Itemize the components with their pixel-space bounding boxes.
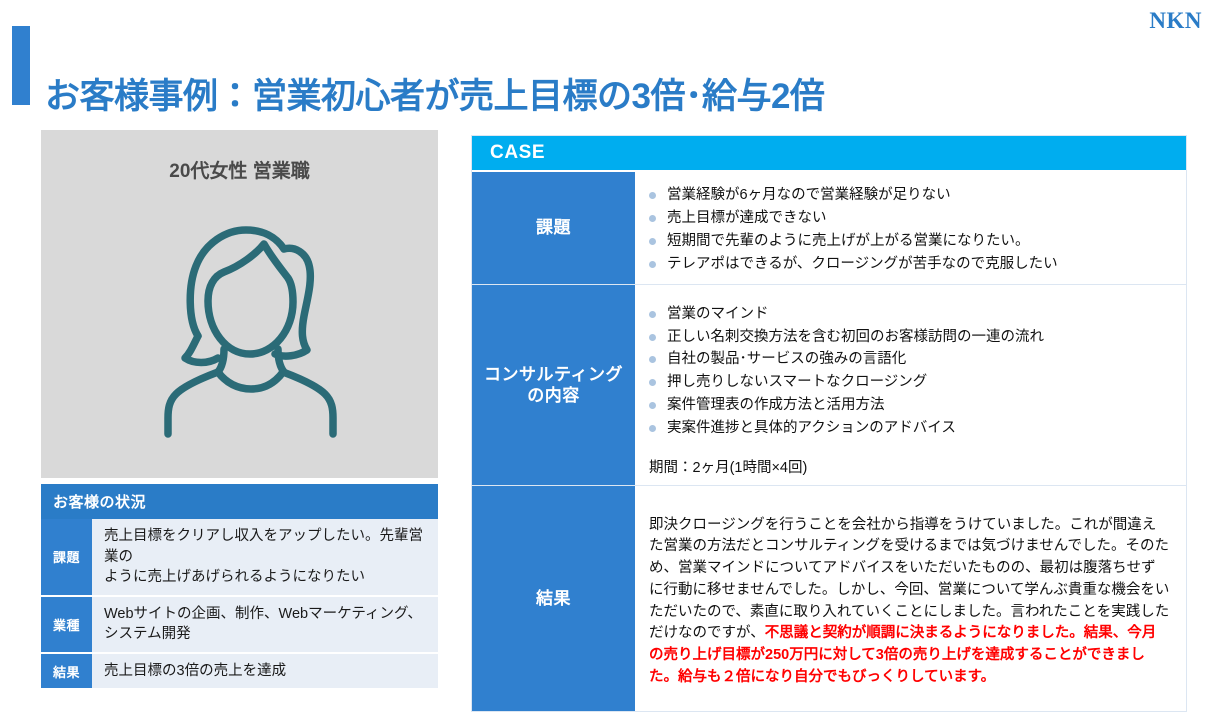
situation-table: お客様の状況 課題 売上目標をクリアし収入をアップしたい。先輩営業の ように売上… [41,484,438,688]
situation-row-label: 業種 [41,597,92,652]
case-row-body: 即決クロージングを行うことを会社から指導をうけていました。これが間違えた営業の方… [635,486,1186,711]
table-row: 課題 営業経験が6ヶ月なので営業経験が足りない 売上目標が達成できない 短期間で… [472,170,1186,284]
table-row: 業種 Webサイトの企画、制作、Webマーケティング、 システム開発 [41,597,438,654]
result-paragraph: 即決クロージングを行うことを会社から指導をうけていました。これが間違えた営業の方… [649,515,1170,689]
case-row-label: 課題 [472,172,635,284]
case-row-body: 営業のマインド 正しい名刺交換方法を含む初回のお客様訪問の一連の流れ 自社の製品… [635,285,1186,485]
situation-row-label: 課題 [41,519,92,595]
case-row-label: 結果 [472,486,635,711]
table-row: 課題 売上目標をクリアし収入をアップしたい。先輩営業の ように売上げあげられるよ… [41,519,438,597]
situation-row-value: 売上目標の3倍の売上を達成 [92,654,438,689]
situation-row-value: 売上目標をクリアし収入をアップしたい。先輩営業の ように売上げあげられるようにな… [92,519,438,595]
case-row-body: 営業経験が6ヶ月なので営業経験が足りない 売上目標が達成できない 短期間で先輩の… [635,172,1186,284]
case-table-header: CASE [472,136,1186,170]
profile-card: 20代女性 営業職 [41,130,438,478]
list-item: テレアポはできるが、クロージングが苦手なので克服したい [649,253,1176,276]
brand-logo: NKN [1149,8,1202,34]
case-table: CASE 課題 営業経験が6ヶ月なので営業経験が足りない 売上目標が達成できない… [471,135,1187,712]
list-item: 自社の製品･サービスの強みの言語化 [649,348,1176,371]
table-row: 結果 売上目標の3倍の売上を達成 [41,654,438,689]
consulting-duration-note: 期間：2ヶ月(1時間×4回) [649,456,1176,477]
table-row: コンサルティング の内容 営業のマインド 正しい名刺交換方法を含む初回のお客様訪… [472,284,1186,485]
list-item: 案件管理表の作成方法と活用方法 [649,394,1176,417]
result-plain-text: 即決クロージングを行うことを会社から指導をうけていました。これが間違えた営業の方… [649,517,1169,642]
case-row-label: コンサルティング の内容 [472,285,635,485]
list-item: 売上目標が達成できない [649,207,1176,230]
list-item: 押し売りしないスマートなクロージング [649,371,1176,394]
page-title: お客様事例：営業初心者が売上目標の3倍･給与2倍 [45,68,824,119]
list-item: 実案件進捗と具体的アクションのアドバイス [649,417,1176,440]
list-item: 短期間で先輩のように売上げが上がる営業になりたい。 [649,230,1176,253]
list-item: 営業経験が6ヶ月なので営業経験が足りない [649,184,1176,207]
profile-heading: 20代女性 営業職 [41,156,438,183]
table-row: 結果 即決クロージングを行うことを会社から指導をうけていました。これが間違えた営… [472,485,1186,711]
situation-row-value: Webサイトの企画、制作、Webマーケティング、 システム開発 [92,597,438,652]
list-item: 営業のマインド [649,303,1176,326]
list-item: 正しい名刺交換方法を含む初回のお客様訪問の一連の流れ [649,326,1176,349]
situation-row-label: 結果 [41,654,92,689]
female-person-icon [132,208,348,444]
title-accent-bar [12,26,30,105]
situation-table-header: お客様の状況 [41,484,438,519]
avatar [41,208,438,444]
consulting-bullet-list: 営業のマインド 正しい名刺交換方法を含む初回のお客様訪問の一連の流れ 自社の製品… [649,303,1176,440]
kadai-bullet-list: 営業経験が6ヶ月なので営業経験が足りない 売上目標が達成できない 短期間で先輩の… [649,184,1176,276]
